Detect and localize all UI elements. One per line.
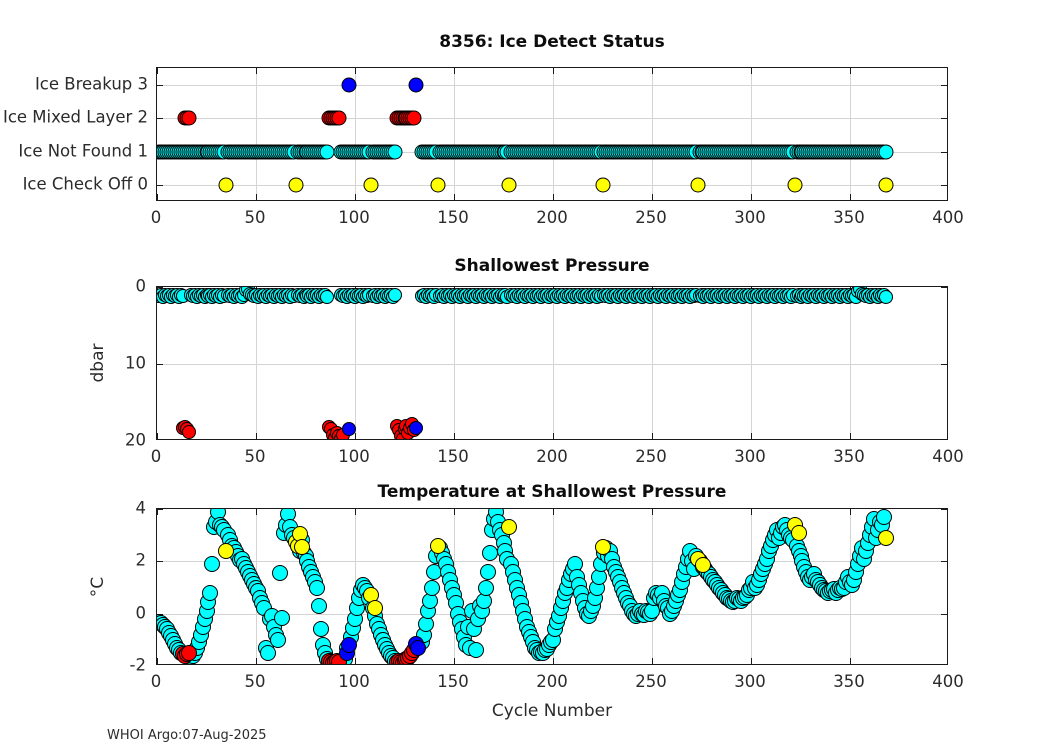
x-tick-label: 50 [245,208,266,227]
x-tick-mark [751,433,752,439]
data-point-marker [690,178,705,193]
y-tick-label: 20 [125,431,146,450]
x-tick-mark [751,658,752,664]
x-tick-mark [355,433,356,439]
y-tick-label: 0 [136,277,147,296]
data-point-marker [309,580,325,596]
data-point-marker [430,538,446,554]
y-tick-mark [157,185,163,186]
data-point-marker [878,178,893,193]
gridline-vertical [256,68,257,200]
panel-title-temperature-at-shallowest-pressure: Temperature at Shallowest Pressure [156,482,948,502]
y-tick-label: Ice Check Off 0 [23,175,148,194]
x-tick-mark [553,658,554,664]
x-tick-mark [454,68,455,74]
x-tick-mark [553,509,554,515]
data-point-marker [294,539,310,555]
data-point-marker [367,600,383,616]
y-tick-mark [941,85,947,86]
x-tick-mark [553,194,554,200]
x-tick-mark [157,68,158,74]
x-tick-label: 400 [932,672,964,691]
x-tick-mark [652,194,653,200]
footer-attribution: WHOI Argo:07-Aug-2025 [107,728,267,743]
data-point-marker [274,610,290,626]
x-tick-label: 200 [536,447,568,466]
data-point-marker [311,598,327,614]
data-point-marker [204,556,220,572]
y-tick-label: 0 [136,603,147,622]
gridline-vertical [652,68,653,200]
x-tick-mark [652,433,653,439]
y-tick-mark [157,364,163,365]
y-tick-label: 10 [125,354,146,373]
x-tick-label: 200 [536,672,568,691]
argo-ice-detect-figure: 8356: Ice Detect Status05010015020025030… [0,0,1050,750]
panel-title-ice-detect-status: 8356: Ice Detect Status [156,32,948,52]
data-point-marker [878,144,893,159]
data-point-marker [341,637,357,653]
y-tick-mark [941,287,947,288]
y-tick-mark [941,118,947,119]
x-tick-mark [850,194,851,200]
y-tick-mark [157,561,163,562]
data-point-marker [501,519,517,535]
x-tick-label: 0 [151,447,162,466]
plot-panel-temperature-at-shallowest-pressure [156,508,948,665]
x-tick-label: 250 [635,208,667,227]
gridline-horizontal [157,118,947,119]
gridline-vertical [850,287,851,439]
data-point-marker [363,178,378,193]
data-point-marker [342,422,356,436]
data-point-marker [202,585,218,601]
gridline-vertical [454,68,455,200]
y-tick-mark [941,364,947,365]
gridline-horizontal [157,185,947,186]
data-point-marker [219,178,234,193]
data-point-marker [218,543,234,559]
x-axis-label: Cycle Number [156,701,948,721]
y-tick-label: Ice Breakup 3 [35,74,148,93]
data-point-marker [595,539,611,555]
data-point-marker [272,565,288,581]
x-tick-label: 200 [536,208,568,227]
x-tick-mark [355,658,356,664]
data-point-marker [388,288,402,302]
data-point-marker [332,111,347,126]
axes-box-temperature-at-shallowest-pressure [156,508,948,665]
y-tick-mark [941,152,947,153]
x-tick-mark [850,509,851,515]
data-point-marker [879,290,893,304]
axes-box-ice-detect-status [156,67,948,201]
data-point-marker [182,425,196,439]
x-tick-mark [256,658,257,664]
x-tick-mark [256,68,257,74]
data-point-marker [478,580,494,596]
x-tick-label: 250 [635,672,667,691]
data-point-marker [787,178,802,193]
data-point-marker [431,178,446,193]
y-axis-label-temperature-at-shallowest-pressure: °C [88,537,108,637]
y-tick-mark [941,509,947,510]
x-tick-label: 150 [437,672,469,691]
x-tick-mark [256,433,257,439]
data-point-marker [878,530,894,546]
data-point-marker [482,545,498,561]
x-tick-label: 100 [338,208,370,227]
gridline-vertical [256,287,257,439]
x-tick-label: 100 [338,672,370,691]
gridline-vertical [850,68,851,200]
gridline-vertical [751,68,752,200]
x-tick-label: 350 [833,672,865,691]
x-tick-mark [157,658,158,664]
x-tick-mark [751,68,752,74]
y-tick-label: 2 [136,551,147,570]
data-point-marker [270,632,286,648]
x-tick-mark [553,68,554,74]
x-tick-mark [157,433,158,439]
x-tick-mark [850,68,851,74]
x-tick-label: 400 [932,447,964,466]
plot-panel-shallowest-pressure [156,286,948,440]
x-tick-mark [652,68,653,74]
x-tick-mark [652,509,653,515]
data-point-marker [260,645,276,661]
gridline-horizontal [157,364,947,365]
data-point-marker [409,77,424,92]
x-tick-mark [850,433,851,439]
y-tick-label: Ice Mixed Layer 2 [3,108,148,127]
data-point-marker [409,421,423,435]
plot-panel-ice-detect-status [156,67,948,201]
axes-box-shallowest-pressure [156,286,948,440]
data-point-marker [288,178,303,193]
y-tick-mark [941,561,947,562]
y-tick-mark [941,185,947,186]
x-tick-mark [454,194,455,200]
x-tick-mark [652,658,653,664]
gridline-vertical [652,287,653,439]
data-point-marker [387,144,402,159]
data-point-marker [320,290,334,304]
x-tick-mark [355,194,356,200]
x-tick-mark [454,433,455,439]
x-tick-mark [751,509,752,515]
gridline-horizontal [157,85,947,86]
x-tick-mark [256,194,257,200]
data-point-marker [468,642,484,658]
y-tick-mark [157,509,163,510]
x-tick-label: 300 [734,447,766,466]
x-tick-label: 300 [734,672,766,691]
x-tick-label: 50 [245,447,266,466]
x-tick-label: 150 [437,447,469,466]
gridline-vertical [553,287,554,439]
x-tick-label: 0 [151,208,162,227]
x-tick-label: 150 [437,208,469,227]
y-tick-mark [941,614,947,615]
data-point-marker [595,178,610,193]
data-point-marker [695,557,711,573]
x-tick-label: 100 [338,447,370,466]
gridline-horizontal [157,561,947,562]
x-tick-label: 400 [932,208,964,227]
x-tick-label: 300 [734,208,766,227]
x-tick-label: 350 [833,447,865,466]
x-tick-label: 50 [245,672,266,691]
x-tick-mark [454,658,455,664]
x-tick-mark [751,194,752,200]
data-point-marker [407,111,422,126]
data-point-marker [410,640,426,656]
data-point-marker [876,509,892,525]
x-tick-label: 350 [833,208,865,227]
panel-title-shallowest-pressure: Shallowest Pressure [156,256,948,276]
data-point-marker [313,621,329,637]
data-point-marker [181,111,196,126]
y-tick-label: Ice Not Found 1 [18,141,148,160]
x-tick-label: 250 [635,447,667,466]
data-point-marker [502,178,517,193]
x-tick-mark [355,509,356,515]
data-point-marker [791,525,807,541]
gridline-vertical [355,287,356,439]
x-tick-mark [355,68,356,74]
x-tick-mark [553,433,554,439]
x-tick-mark [157,194,158,200]
gridline-vertical [553,68,554,200]
data-point-marker [320,144,335,159]
x-tick-mark [850,658,851,664]
gridline-vertical [751,287,752,439]
data-point-marker [424,580,440,596]
x-tick-mark [256,509,257,515]
data-point-marker [181,645,197,661]
x-tick-mark [454,509,455,515]
gridline-vertical [454,287,455,439]
y-tick-mark [157,85,163,86]
y-tick-label: -2 [130,656,146,675]
y-axis-label-shallowest-pressure: dbar [88,313,108,413]
y-tick-label: 4 [136,499,147,518]
data-point-marker [480,564,496,580]
y-tick-mark [157,118,163,119]
x-tick-label: 0 [151,672,162,691]
data-point-marker [342,77,357,92]
